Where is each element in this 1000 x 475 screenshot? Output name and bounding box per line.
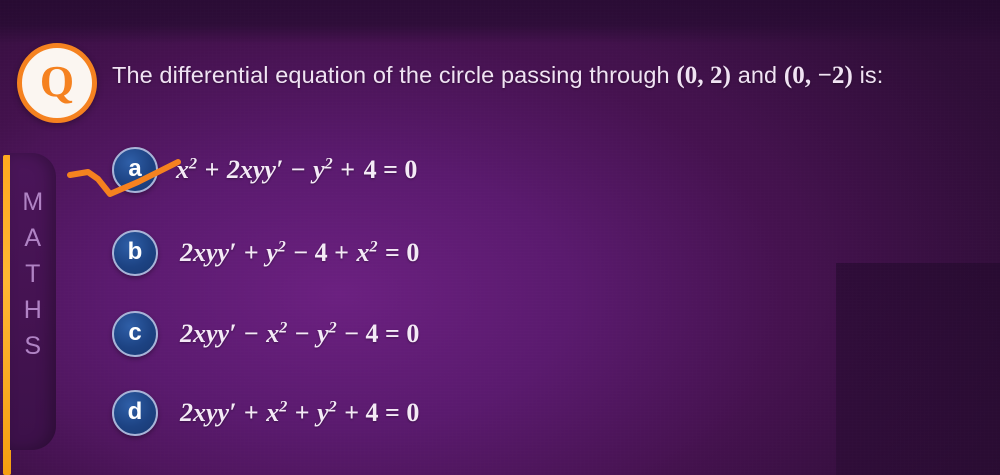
question-text: The differential equation of the circle … [112,62,992,90]
option-b-letter: b [128,240,143,264]
option-b[interactable]: b 2xyy′ + y2 − 4 + x2 = 0 [112,230,420,276]
question-text-part-1: The differential equation of the circle … [112,62,676,88]
question-text-part-3: is: [853,62,883,88]
option-d-letter: d [128,400,143,424]
background-dark-panel [836,263,1000,475]
option-d[interactable]: d 2xyy′ + x2 + y2 + 4 = 0 [112,390,420,436]
option-a-letter: a [128,157,141,181]
option-b-badge[interactable]: b [112,230,158,276]
option-b-text: 2xyy′ + y2 − 4 + x2 = 0 [180,238,420,268]
sidebar-letter-m: M [22,190,43,215]
option-a[interactable]: a x2 + 2xyy′ − y2 + 4 = 0 [112,147,418,193]
option-c-letter: c [128,321,141,345]
question-point-2: (0, −2) [784,62,853,89]
sidebar-letter-h: H [24,298,43,323]
option-c-text: 2xyy′ − x2 − y2 − 4 = 0 [180,319,420,349]
background-top-band [0,0,1000,44]
option-d-badge[interactable]: d [112,390,158,436]
sidebar-letter-a: A [24,226,41,251]
question-point-1: (0, 2) [676,62,731,89]
option-a-badge[interactable]: a [112,147,158,193]
sidebar-subject-label: M A T H S [10,190,56,359]
option-c-badge[interactable]: c [112,311,158,357]
question-text-part-2: and [731,62,784,88]
sidebar-letter-t: T [25,262,41,287]
question-badge: Q [17,43,97,123]
option-d-text: 2xyy′ + x2 + y2 + 4 = 0 [180,398,420,428]
slide-canvas: M A T H S Q The differential equation of… [0,0,1000,475]
option-a-text: x2 + 2xyy′ − y2 + 4 = 0 [176,155,418,185]
option-c[interactable]: c 2xyy′ − x2 − y2 − 4 = 0 [112,311,420,357]
question-badge-letter: Q [40,60,74,104]
sidebar-letter-s: S [24,334,41,359]
